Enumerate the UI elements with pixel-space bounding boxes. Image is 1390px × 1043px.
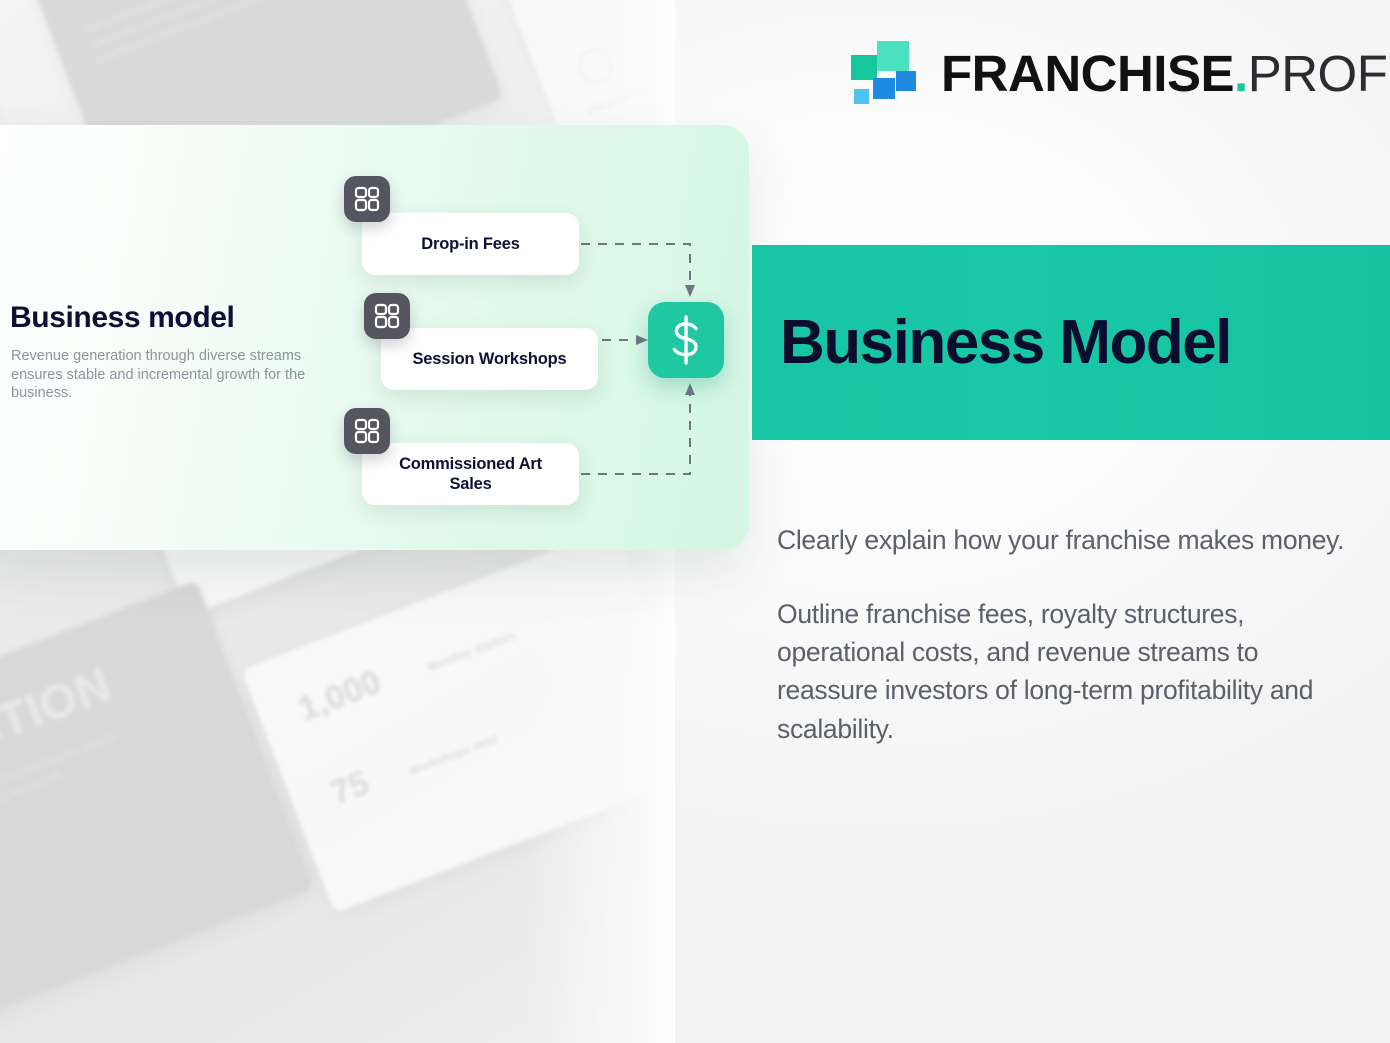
- collage-stat-label: Monthly Visitors: [426, 628, 518, 674]
- grid-icon: [344, 408, 390, 454]
- revenue-node-label: Drop-in Fees: [421, 234, 519, 254]
- revenue-node-drop-in-fees[interactable]: Drop-in Fees: [362, 213, 579, 275]
- grid-icon: [344, 176, 390, 222]
- dollar-icon[interactable]: [648, 302, 724, 378]
- collage-stat-value: 75: [325, 764, 374, 814]
- slide-preview-card: Business model Revenue generation throug…: [0, 125, 749, 550]
- grid-icon: [364, 293, 410, 339]
- collage-slide-body: Many individuals and communities lack ac…: [82, 0, 379, 69]
- revenue-node-session-workshops[interactable]: Session Workshops: [381, 328, 598, 390]
- franchise-profiles-logo-icon: [851, 41, 913, 105]
- description-paragraph-1: Clearly explain how your franchise makes…: [777, 521, 1352, 559]
- collage-slide-traction: TRACTION Significant milestones demonstr…: [0, 580, 315, 1031]
- logo-square-lightblue: [854, 89, 869, 104]
- brand-logo[interactable]: FRANCHISE.PROFILES: [851, 41, 1390, 105]
- logo-square-teal: [851, 55, 877, 80]
- brand-name-dot: .: [1234, 48, 1248, 99]
- revenue-flow-diagram: Drop-in Fees Session Workshops Commissio…: [0, 125, 749, 550]
- section-title-banner: Business Model: [752, 245, 1390, 440]
- collage-stat-value: 1,000: [293, 663, 386, 730]
- logo-square-blue-2: [896, 71, 916, 91]
- revenue-node-label: Commissioned Art Sales: [376, 454, 565, 494]
- logo-square-blue-1: [873, 78, 895, 99]
- revenue-node-label: Session Workshops: [412, 349, 566, 369]
- brand-name-bold: FRANCHISE: [941, 48, 1234, 99]
- brand-wordmark: FRANCHISE.PROFILES: [941, 48, 1390, 99]
- description-paragraph-2: Outline franchise fees, royalty structur…: [777, 595, 1352, 748]
- collage-stat-label: Workshops Held: [407, 731, 500, 778]
- logo-square-mint: [877, 41, 909, 71]
- page-title: Business Model: [780, 312, 1231, 374]
- description-copy: Clearly explain how your franchise makes…: [777, 521, 1352, 748]
- revenue-node-commissioned-art-sales[interactable]: Commissioned Art Sales: [362, 443, 579, 505]
- brand-name-light: PROFILES: [1248, 48, 1390, 99]
